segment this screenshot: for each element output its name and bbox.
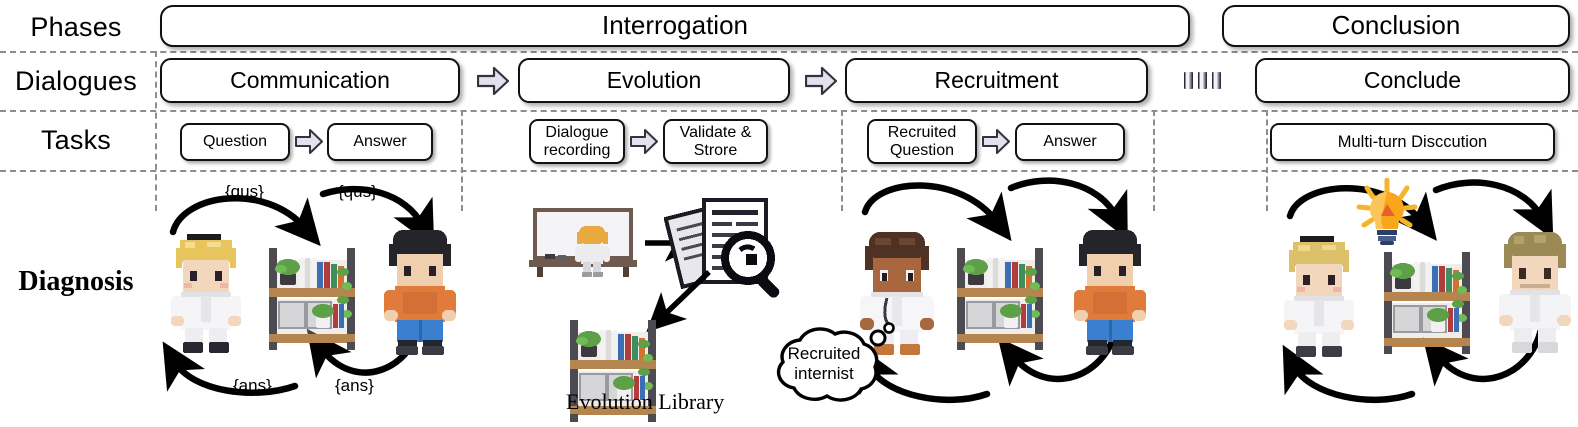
dialogue-communication-label: Communication <box>230 68 390 94</box>
flow-arrow-evo-to-recruit <box>805 66 837 96</box>
patient-dark-hair-avatar <box>377 226 463 363</box>
evolution-library-caption: Evolution Library <box>566 389 724 415</box>
dialogue-evolution-label: Evolution <box>607 68 702 94</box>
row-label-tasks: Tasks <box>0 114 152 166</box>
ellipsis-dot-2 <box>1198 72 1207 89</box>
dialogue-evolution[interactable]: Evolution <box>518 58 790 103</box>
doctor-blonde-avatar <box>163 228 249 363</box>
phase-conclusion[interactable]: Conclusion <box>1222 5 1570 47</box>
message-label-qus-1: {qus} <box>225 182 264 202</box>
task-recruited-question[interactable]: Recruited Question <box>867 119 977 164</box>
bookshelf-icon-recruitment <box>951 242 1049 355</box>
flow-arrow-recording-to-validate <box>630 128 658 155</box>
phase-interrogation[interactable]: Interrogation <box>160 5 1190 47</box>
flow-arrow-question-to-answer <box>295 128 323 155</box>
dialogue-conclude-label: Conclude <box>1364 68 1461 94</box>
message-label-ans-1-text: {ans} <box>233 376 272 395</box>
thought-cloud-text: Recruited internist <box>773 344 875 383</box>
task-answer-recruitment-label: Answer <box>1043 133 1096 151</box>
thought-cloud-line-2: internist <box>773 364 875 384</box>
message-label-ans-2: {ans} <box>335 376 374 396</box>
ellipsis-dot-3 <box>1212 72 1221 89</box>
lightbulb-icon <box>1356 178 1418 251</box>
message-label-qus-2: {qus} <box>338 182 377 202</box>
task-answer-recruitment[interactable]: Answer <box>1015 123 1125 161</box>
dialogue-ellipsis-icon <box>1184 72 1221 89</box>
diagnosis-scene-conclusion <box>1266 170 1578 415</box>
message-label-ans-2-text: {ans} <box>335 376 374 395</box>
grid-hline-phases-dialogues <box>0 51 1578 53</box>
dialogue-communication[interactable]: Communication <box>160 58 460 103</box>
dialogue-recruitment[interactable]: Recruitment <box>845 58 1148 103</box>
task-answer-communication[interactable]: Answer <box>327 123 433 161</box>
task-recruited-question-label: Recruited Question <box>869 124 975 160</box>
doctor-curly-avatar <box>1492 226 1578 363</box>
task-dialogue-recording-label: Dialogue recording <box>531 124 623 160</box>
row-label-tasks-text: Tasks <box>41 125 111 156</box>
evolution-library-caption-text: Evolution Library <box>566 389 724 414</box>
patient-dark-hair-avatar-recruitment <box>1067 226 1153 363</box>
phase-conclusion-label: Conclusion <box>1332 11 1461 40</box>
whiteboard-presenter-icon <box>527 204 639 285</box>
task-multi-turn-discussion[interactable]: Multi-turn Disccution <box>1270 123 1555 161</box>
flow-arrow-comm-to-evo <box>477 66 509 96</box>
diagnosis-scene-recruitment: Recruited internist <box>841 170 1153 415</box>
figure-canvas: Phases Dialogues Tasks Diagnosis Interro… <box>0 0 1578 415</box>
row-label-diagnosis-text: Diagnosis <box>18 266 133 298</box>
flow-arrow-recruited-to-answer <box>982 128 1010 155</box>
ellipsis-dot-1 <box>1184 72 1193 89</box>
message-label-qus-2-text: {qus} <box>338 182 377 201</box>
task-question-label: Question <box>203 133 267 151</box>
doctor-blonde-avatar-conclusion <box>1276 232 1362 367</box>
thought-cloud-recruited-internist: Recruited internist <box>749 322 899 419</box>
row-label-dialogues-text: Dialogues <box>15 66 137 97</box>
task-validate-store[interactable]: Validate & Strore <box>663 119 768 164</box>
phase-interrogation-label: Interrogation <box>602 11 748 40</box>
row-label-diagnosis: Diagnosis <box>0 262 152 302</box>
message-label-qus-1-text: {qus} <box>225 182 264 201</box>
row-label-dialogues: Dialogues <box>0 56 152 106</box>
message-label-ans-1: {ans} <box>233 376 272 396</box>
task-multi-turn-discussion-label: Multi-turn Disccution <box>1338 133 1487 151</box>
grid-hline-dialogues-tasks <box>0 110 1578 112</box>
dialogue-conclude[interactable]: Conclude <box>1255 58 1570 103</box>
row-label-phases: Phases <box>0 4 152 50</box>
task-dialogue-recording[interactable]: Dialogue recording <box>529 119 625 164</box>
grid-vline-recruit-gap <box>1153 110 1155 211</box>
task-validate-store-label: Validate & Strore <box>665 124 766 160</box>
task-answer-communication-label: Answer <box>353 133 406 151</box>
dialogue-recruitment-label: Recruitment <box>935 68 1059 94</box>
thought-cloud-line-1: Recruited <box>773 344 875 364</box>
diagnosis-scene-communication: {qus} {qus} {ans} {ans} <box>155 170 461 415</box>
row-label-phases-text: Phases <box>30 12 121 43</box>
task-question[interactable]: Question <box>180 123 290 161</box>
bookshelf-icon-conclusion <box>1378 246 1476 359</box>
bookshelf-icon <box>263 242 361 355</box>
